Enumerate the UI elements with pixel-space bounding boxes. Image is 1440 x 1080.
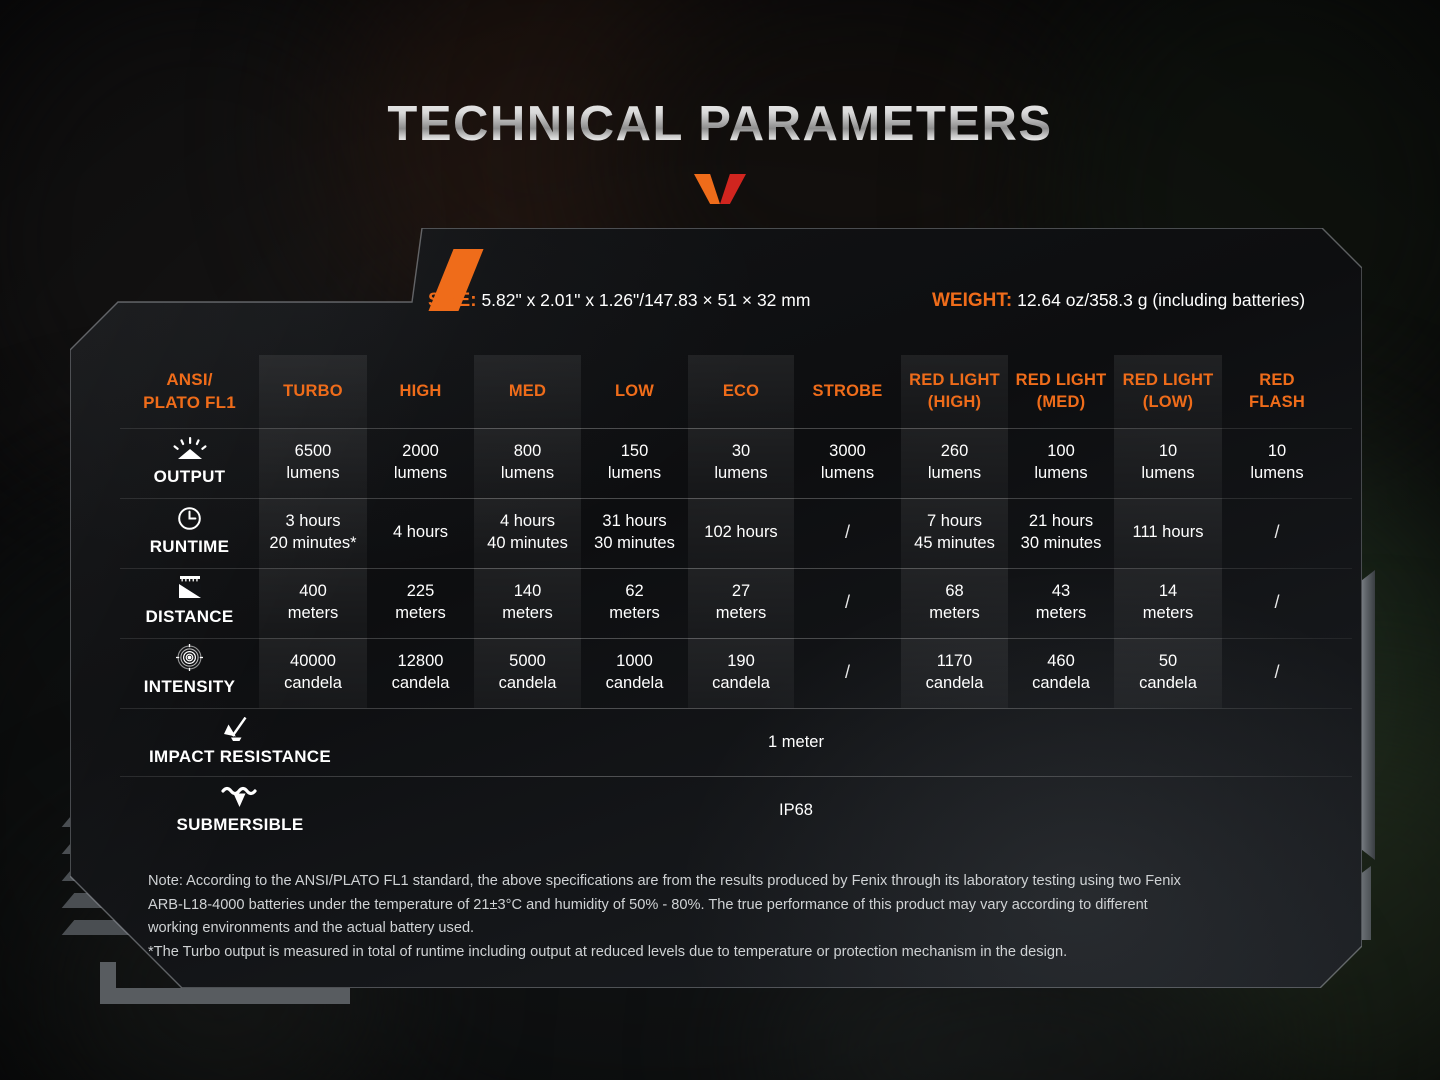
distance-label: DISTANCE <box>145 606 233 628</box>
output-turbo: 6500 lumens <box>259 428 367 498</box>
output-high: 2000 lumens <box>367 428 474 498</box>
header-strobe: STROBE <box>794 355 901 428</box>
output-red-low: 10 lumens <box>1114 428 1222 498</box>
runtime-red-med: 21 hours 30 minutes <box>1008 498 1114 568</box>
intensity-label: INTENSITY <box>144 676 236 698</box>
output-label: OUTPUT <box>154 466 226 488</box>
distance-turbo: 400 meters <box>259 568 367 638</box>
output-eco: 30 lumens <box>688 428 794 498</box>
header-low: LOW <box>581 355 688 428</box>
distance-red-flash: / <box>1222 568 1332 638</box>
header-red-light-med: RED LIGHT (MED) <box>1008 355 1114 428</box>
chevron-down-icon <box>694 174 746 204</box>
weight-spec: WEIGHT: 12.64 oz/358.3 g (including batt… <box>932 290 1305 312</box>
weight-label: WEIGHT: <box>932 290 1012 311</box>
light-burst-icon <box>170 437 210 461</box>
beam-distance-icon <box>170 577 210 601</box>
clock-icon <box>177 507 202 531</box>
intensity-red-low: 50 candela <box>1114 638 1222 708</box>
distance-red-low: 14 meters <box>1114 568 1222 638</box>
distance-low: 62 meters <box>581 568 688 638</box>
header-rm-line2: (MED) <box>1037 392 1086 414</box>
header-red-flash: RED FLASH <box>1222 355 1332 428</box>
runtime-red-low: 111 hours <box>1114 498 1222 568</box>
table-row-runtime: RUNTIME 3 hours 20 minutes* 4 hours 4 ho… <box>120 498 1352 568</box>
intensity-eco: 190 candela <box>688 638 794 708</box>
title-section: TECHNICAL PARAMETERS <box>0 96 1440 204</box>
runtime-eco: 102 hours <box>688 498 794 568</box>
table-row-submersible: SUBMERSIBLE IP68 <box>120 776 1352 844</box>
runtime-label: RUNTIME <box>150 536 230 558</box>
page-title: TECHNICAL PARAMETERS <box>0 96 1440 152</box>
table-row-output: OUTPUT 6500 lumens 2000 lumens 800 lumen… <box>120 428 1352 498</box>
target-intensity-icon <box>176 647 203 671</box>
header-rf-line2: FLASH <box>1249 392 1305 414</box>
row-label-runtime: RUNTIME <box>120 498 259 568</box>
size-spec: SIZE: 5.82" x 2.01" x 1.26"/147.83 × 51 … <box>428 290 810 312</box>
table-row-distance: DISTANCE 400 meters 225 meters 140 meter… <box>120 568 1352 638</box>
intensity-low: 1000 candela <box>581 638 688 708</box>
output-low: 150 lumens <box>581 428 688 498</box>
distance-eco: 27 meters <box>688 568 794 638</box>
distance-med: 140 meters <box>474 568 581 638</box>
header-med: MED <box>474 355 581 428</box>
header-high: HIGH <box>367 355 474 428</box>
table-row-intensity: INTENSITY 40000 candela 12800 candela 50… <box>120 638 1352 708</box>
header-rl-line1: RED LIGHT <box>1123 370 1214 392</box>
header-rl-line2: (LOW) <box>1143 392 1193 414</box>
size-label: SIZE: <box>428 290 477 311</box>
note-line-4: *The Turbo output is measured in total o… <box>148 941 1338 965</box>
intensity-turbo: 40000 candela <box>259 638 367 708</box>
runtime-red-high: 7 hours 45 minutes <box>901 498 1008 568</box>
intensity-high: 12800 candela <box>367 638 474 708</box>
table-row-impact-resistance: IMPACT RESISTANCE 1 meter <box>120 708 1352 776</box>
runtime-strobe: / <box>794 498 901 568</box>
header-ansi-plato: ANSI/ PLATO FL1 <box>120 355 259 428</box>
intensity-strobe: / <box>794 638 901 708</box>
header-rh-line2: (HIGH) <box>928 392 981 414</box>
distance-red-high: 68 meters <box>901 568 1008 638</box>
header-rf-line1: RED <box>1259 370 1294 392</box>
output-red-high: 260 lumens <box>901 428 1008 498</box>
row-label-output: OUTPUT <box>120 428 259 498</box>
submersible-value: IP68 <box>240 776 1352 844</box>
weight-value: 12.64 oz/358.3 g (including batteries) <box>1017 290 1305 310</box>
header-red-light-high: RED LIGHT (HIGH) <box>901 355 1008 428</box>
row-label-intensity: INTENSITY <box>120 638 259 708</box>
distance-high: 225 meters <box>367 568 474 638</box>
distance-red-med: 43 meters <box>1008 568 1114 638</box>
table-header-row: ANSI/ PLATO FL1 TURBO HIGH MED LOW ECO S… <box>120 355 1352 428</box>
header-eco: ECO <box>688 355 794 428</box>
impact-value: 1 meter <box>240 708 1352 776</box>
intensity-red-med: 460 candela <box>1008 638 1114 708</box>
note-line-2: ARB-L18-4000 batteries under the tempera… <box>148 894 1338 918</box>
note-line-1: Note: According to the ANSI/PLATO FL1 st… <box>148 870 1338 894</box>
runtime-med: 4 hours 40 minutes <box>474 498 581 568</box>
output-red-flash: 10 lumens <box>1222 428 1332 498</box>
runtime-turbo: 3 hours 20 minutes* <box>259 498 367 568</box>
header-red-light-low: RED LIGHT (LOW) <box>1114 355 1222 428</box>
output-med: 800 lumens <box>474 428 581 498</box>
intensity-red-high: 1170 candela <box>901 638 1008 708</box>
header-ansi-line2: PLATO FL1 <box>143 392 236 415</box>
header-rh-line1: RED LIGHT <box>909 370 1000 392</box>
runtime-low: 31 hours 30 minutes <box>581 498 688 568</box>
note-line-3: working environments and the actual batt… <box>148 917 1338 941</box>
footnote: Note: According to the ANSI/PLATO FL1 st… <box>148 870 1338 965</box>
header-rm-line1: RED LIGHT <box>1016 370 1107 392</box>
size-value: 5.82" x 2.01" x 1.26"/147.83 × 51 × 32 m… <box>481 290 810 310</box>
runtime-red-flash: / <box>1222 498 1332 568</box>
header-ansi-line1: ANSI/ <box>166 369 212 392</box>
header-turbo: TURBO <box>259 355 367 428</box>
runtime-high: 4 hours <box>367 498 474 568</box>
specifications-table: ANSI/ PLATO FL1 TURBO HIGH MED LOW ECO S… <box>120 355 1352 844</box>
distance-strobe: / <box>794 568 901 638</box>
intensity-med: 5000 candela <box>474 638 581 708</box>
output-strobe: 3000 lumens <box>794 428 901 498</box>
output-red-med: 100 lumens <box>1008 428 1114 498</box>
size-weight-line: SIZE: 5.82" x 2.01" x 1.26"/147.83 × 51 … <box>70 290 1362 330</box>
row-label-distance: DISTANCE <box>120 568 259 638</box>
intensity-red-flash: / <box>1222 638 1332 708</box>
